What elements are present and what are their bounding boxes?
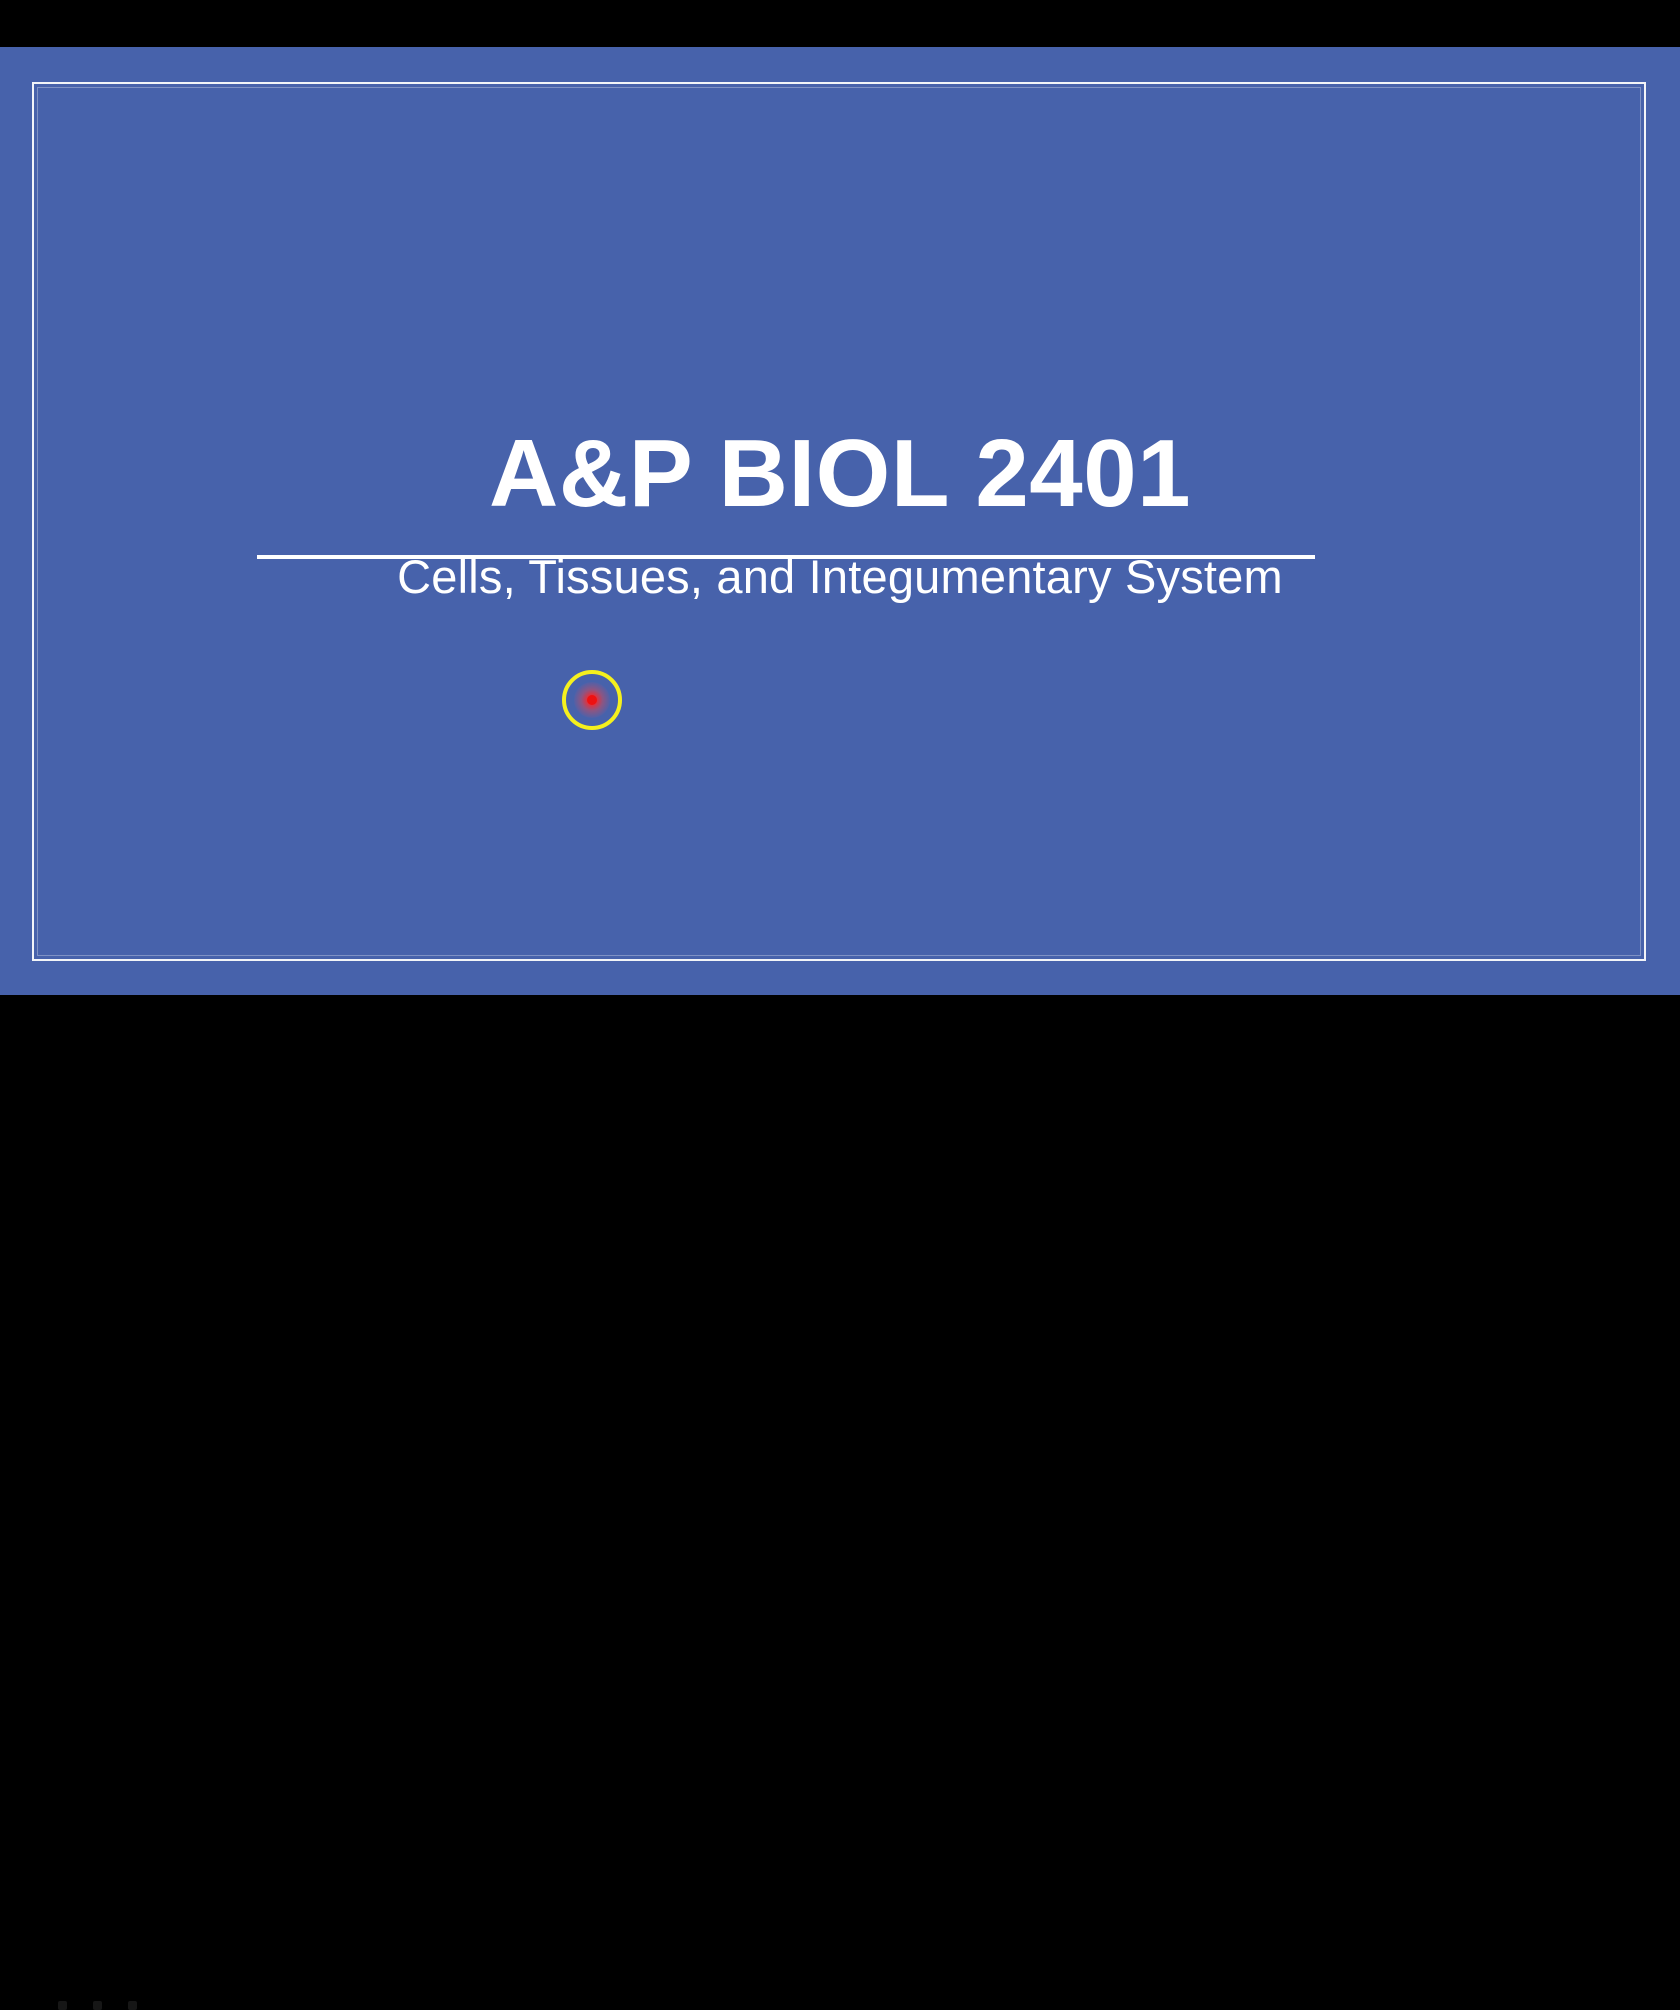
click-glow-icon	[574, 682, 610, 718]
click-indicator	[562, 670, 622, 730]
play-pause-icon[interactable]	[93, 2001, 102, 2010]
slide-surface[interactable]: A&P BIOL 2401 Cells, Tissues, and Integu…	[0, 47, 1680, 995]
slide-title: A&P BIOL 2401	[0, 419, 1680, 529]
next-slide-icon[interactable]	[128, 2001, 137, 2010]
player-bar	[0, 995, 1680, 1050]
previous-slide-icon[interactable]	[58, 2001, 67, 2010]
click-ring-icon	[562, 670, 622, 730]
click-point-icon	[587, 695, 597, 705]
presentation-stage: A&P BIOL 2401 Cells, Tissues, and Integu…	[0, 0, 1680, 1050]
slide-subtitle: Cells, Tissues, and Integumentary System	[0, 547, 1680, 607]
player-controls[interactable]	[58, 2001, 137, 2010]
